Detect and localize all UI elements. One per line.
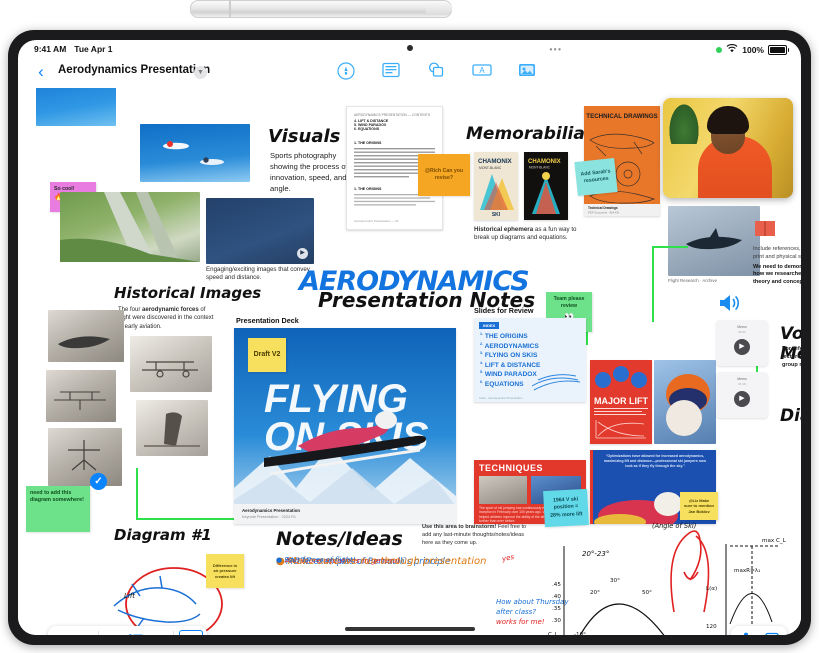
visuals-heading: Visuals [268,126,340,147]
status-bar: 9:41 AM Tue Apr 1 ••• 100% [18,40,801,58]
photo-historic-2[interactable] [130,336,212,392]
status-left: 9:41 AM Tue Apr 1 [34,44,113,54]
back-button[interactable]: ‹ [32,62,50,82]
svg-text:20°-23°: 20°-23° [582,550,609,558]
green-privacy-dot [716,47,722,53]
add-resources-note[interactable]: Add Sarah's resources [574,158,617,196]
document-section-2: 1. THE ORIGINS [354,187,381,191]
whiteboard-canvas[interactable]: So cool! 🔥🔥🔥 ▶ Engaging/exciting images … [18,88,801,635]
voice-memo-card-2[interactable]: Memo 01:18 ▶ [716,372,768,418]
index-kicker: INDEX [479,322,499,329]
svg-text:.40: .40 [552,594,561,600]
apple-pencil [190,0,452,18]
air-pressure-note[interactable]: Difference in air pressure creates lift [206,554,244,588]
svg-text:C_L: C_L [548,632,559,635]
poster-chamonix-1[interactable]: CHAMONIX MONT-BLANC SKI [474,152,518,220]
pencil-band [229,1,231,17]
svg-text:TECHNICAL DRAWINGS: TECHNICAL DRAWINGS [586,113,657,120]
tool-icon-row: A [336,61,538,79]
svg-text:120: 120 [706,624,717,630]
toolbar-divider-2 [173,631,174,635]
list-icon[interactable] [125,629,147,635]
collaborate-icon[interactable] [735,629,757,635]
revise-note[interactable]: @Rich Can you revise? [418,154,470,196]
prev-page-button[interactable]: ‹ [101,629,123,635]
photo-video-thumb[interactable]: ▶ [206,198,314,264]
svg-text:30°: 30° [610,578,620,584]
grid-square-icon[interactable] [761,629,783,635]
memorabilia-heading: Memorabilia [466,124,585,144]
photo-glider[interactable] [668,206,760,276]
ipad-device: 9:41 AM Tue Apr 1 ••• 100% ‹ Aerodynamic… [8,30,811,645]
star-icon[interactable]: ★ [179,630,203,635]
historical-images-heading: Historical Images [114,284,261,302]
references-line1: Include references, [753,246,801,254]
voice-body: For reference: lecture audio + group rec… [782,346,801,369]
photo-icon[interactable] [516,61,538,79]
document-section-1: 1. THE ORIGINS [354,141,435,145]
diagram1-heading: Diagram #1 [114,526,212,544]
zoom-level[interactable]: 100% [52,634,96,636]
screenshot-root: 9:41 AM Tue Apr 1 ••• 100% ‹ Aerodynamic… [0,0,819,653]
page-title: Aerodynamics Presentation [58,64,210,76]
references-block: Include references, print and physical s… [753,218,801,287]
memorabilia-caption: Historical ephemera as a fun way to brea… [474,226,578,243]
speaker-icon [718,293,742,318]
svg-text:MONT-BLANC: MONT-BLANC [479,166,502,170]
document-footer: Aerodynamics Presentation — 01 [354,219,399,223]
board-tools[interactable] [731,626,787,635]
photo-jumper-closeup[interactable] [654,360,716,444]
book-icon [753,218,801,243]
svg-text:Technical Drawings: Technical Drawings [588,206,618,210]
sticky-note-icon[interactable] [381,61,403,79]
zoom-toolbar[interactable]: 100% ‹ › ★ [48,626,207,635]
visuals-body: Sports photography showing the process o… [270,150,348,194]
pen-circle-icon[interactable] [336,61,358,79]
references-bold2: how we researched the [753,271,801,279]
voice-memo-card-1[interactable]: Memo 00:42 ▶ [716,320,768,366]
shapes-icon[interactable] [426,61,448,79]
home-indicator[interactable] [345,627,475,631]
photo-glider-caption: Flight Research · Archive [668,278,758,284]
notes-ideas-heading: Notes/Ideas [276,528,403,550]
svg-text:20°: 20° [590,590,600,596]
svg-text:L(α): L(α) [706,586,717,592]
references-bold1: We need to demonstrate [753,264,801,272]
index-slide[interactable]: INDEX 1. THE ORIGINS 2. AERODYNAMICS 3. … [474,318,586,402]
voice-memo-label-2: Memo [716,377,768,381]
major-lift-slide[interactable]: MAJOR LIFT [590,360,652,444]
svg-text:-10°: -10° [574,632,586,635]
quote-text: "Optimizations have allowed for increase… [600,454,710,469]
svg-text:SKI: SKI [492,212,501,218]
lift-stat-note[interactable]: 1964 V ski position = 28% more lift [543,489,589,527]
svg-text:PDF Document · 864 KB: PDF Document · 864 KB [588,210,619,214]
svg-text:maxR=λ₁: maxR=λ₁ [734,568,760,574]
battery-percent: 100% [742,45,764,55]
svg-text:A: A [479,66,485,75]
play-button-1[interactable]: ▶ [734,339,750,355]
voice-memo-label-1: Memo [716,325,768,329]
connector-line-1 [652,248,654,322]
svg-text:.35: .35 [552,606,561,612]
connector-line-7 [136,468,138,520]
svg-text:Lift: Lift [124,592,135,600]
slides-for-review-label: Slides for Review [474,306,534,315]
approved-check-icon[interactable]: ✓ [90,473,107,490]
svg-text:(Angle of Ski): (Angle of Ski) [652,522,696,530]
play-button-2[interactable]: ▶ [734,391,750,407]
pencil-tip [426,2,452,15]
techniques-title: TECHNIQUES [479,463,543,473]
idea-bullet-4: ● Four forces of flight! [276,556,356,564]
svg-text:max C_L: max C_L [762,538,787,544]
connector-line-2 [652,246,688,248]
facetime-tile[interactable] [663,98,793,198]
photo-ski-jump-1[interactable] [36,88,116,126]
status-date: Tue Apr 1 [74,44,112,54]
svg-text:Keynote Presentation · 2024 R1: Keynote Presentation · 2024 R1 [242,515,296,519]
ipad-screen: 9:41 AM Tue Apr 1 ••• 100% ‹ Aerodynamic… [18,40,801,635]
references-bold3: theory and concepts. [753,279,801,287]
status-right: 100% [716,44,787,55]
poster-chamonix-2[interactable]: CHAMONIX MONT-BLANC [524,152,568,220]
draft-note[interactable]: Draft V2 [248,338,286,372]
app-nav-bar: ‹ Aerodynamics Presentation ▼ A [18,58,801,88]
notes-ideas-hint: Use this area to brainstorm! Feel free t… [422,524,536,547]
presentation-deck-label: Presentation Deck [236,316,299,325]
voice-memo-sub-2: 01:18 [716,382,768,386]
need-to-add-note[interactable]: need to add this diagram somewhere! [26,486,90,532]
next-page-button[interactable]: › [149,629,171,635]
svg-text:CHAMONIX: CHAMONIX [478,158,513,165]
svg-text:MONT-BLANC: MONT-BLANC [529,166,551,170]
status-time: 9:41 AM [34,44,66,54]
svg-text:Aerodynamics Presentation: Aerodynamics Presentation [242,508,300,513]
svg-text:CHAMONIX: CHAMONIX [528,159,561,165]
photo-historic-1[interactable] [48,310,124,362]
wifi-icon [726,44,738,55]
text-box-icon[interactable]: A [471,61,493,79]
photo-ski-hill[interactable] [60,192,200,262]
historical-images-body: The four aerodynamic forces of flight we… [118,306,218,331]
ink-q2: after class? [496,608,536,616]
svg-text:MAJOR LIFT: MAJOR LIFT [594,396,648,406]
play-badge-icon[interactable]: ▶ [297,248,308,259]
svg-text:.30: .30 [552,618,561,624]
battery-icon [768,45,787,55]
chevron-down-icon[interactable]: ▼ [194,66,207,79]
document-toc: AERODYNAMICS PRESENTATION — CONTENTS 4. … [354,113,435,131]
references-line2: print and physical sources. [753,254,801,262]
status-overflow-dots: ••• [550,45,563,54]
photo-historic-3[interactable] [46,370,116,422]
ink-yes: yes [501,553,515,563]
document-body-2 [354,193,435,222]
techniques-photo-1 [479,476,527,504]
voice-memo-sub-1: 00:42 [716,330,768,334]
photo-ski-jump-2[interactable] [140,124,250,182]
max-cl-chart[interactable]: max C_LL(α) maxR=λ₁120 90180(α) V₂=31.9m… [704,532,801,635]
toolbar-divider-1 [98,631,99,635]
ink-q3: works for me! [496,618,545,626]
photo-historic-5[interactable] [48,428,122,486]
svg-text:.45: .45 [552,582,561,588]
photo-historic-4[interactable] [136,400,208,456]
diagrams-heading-right: Diagrams [780,406,801,426]
